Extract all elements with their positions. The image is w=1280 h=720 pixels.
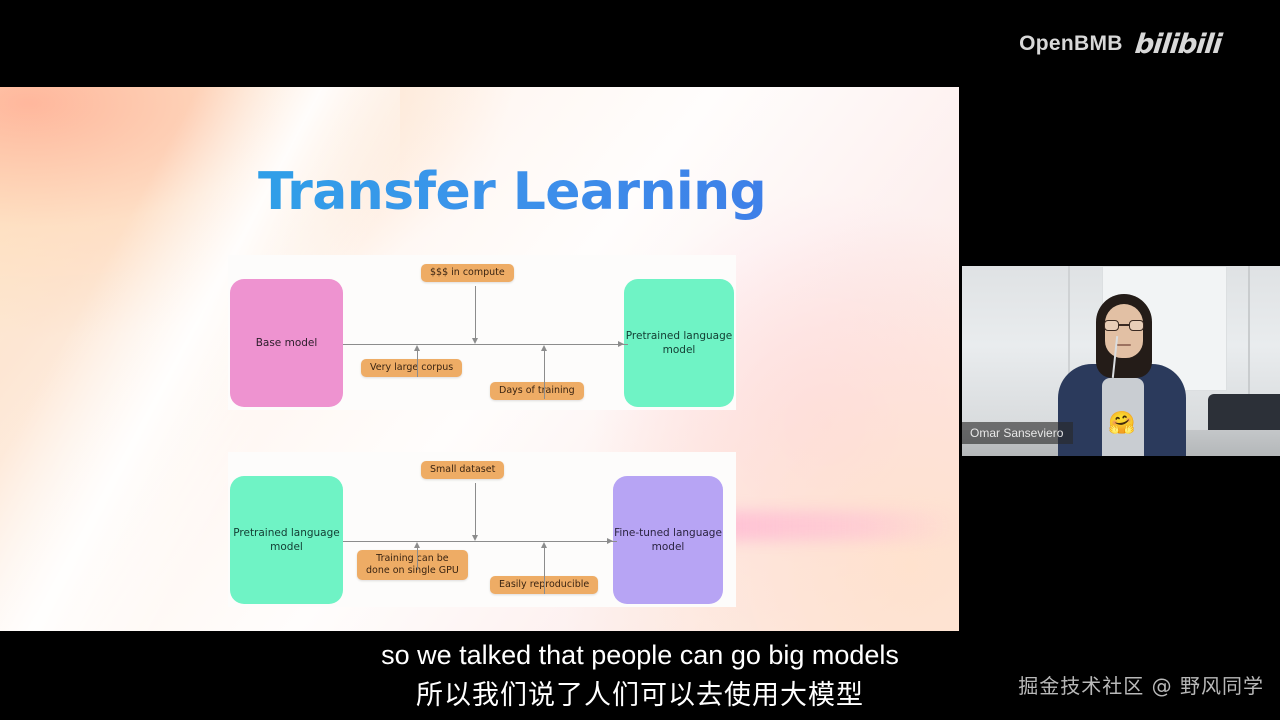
page-title: Transfer Learning <box>258 162 766 222</box>
speaker-mouth <box>1117 344 1131 346</box>
connector-gpu-stem <box>417 548 418 570</box>
connector-main-line <box>343 344 628 345</box>
connector-gpu-arrowhead-icon <box>414 542 420 548</box>
tag-very-large-corpus: Very large corpus <box>361 359 462 377</box>
tag-single-gpu-training: Training can be done on single GPU <box>357 550 468 580</box>
video-player-stage: OpenBMB bilibili Transfer Learning Base … <box>0 0 1280 720</box>
bilibili-logo: bilibili <box>1133 29 1222 60</box>
connector-reproducible-stem <box>544 548 545 594</box>
tag-days-of-training: Days of training <box>490 382 584 400</box>
subtitle-chinese: 所以我们说了人们可以去使用大模型 <box>416 673 864 712</box>
node-pretrained-language-model: Pretrained language model <box>624 279 734 407</box>
node-finetuned-language-model: Fine-tuned language model <box>613 476 723 604</box>
connector-dataset-arrowhead-icon <box>472 535 478 541</box>
connector-corpus-stem <box>417 351 418 377</box>
diagram-finetuning: Pretrained language model Fine-tuned lan… <box>228 452 736 607</box>
speaker-name-label: Omar Sanseviero <box>962 422 1073 444</box>
channel-brand-bar: OpenBMB bilibili <box>960 0 1280 88</box>
connector-dataset-stem <box>475 483 476 535</box>
tag-small-dataset: Small dataset <box>421 461 504 479</box>
connector-reproducible-arrowhead-icon <box>541 542 547 548</box>
connector-main-line <box>343 541 617 542</box>
subtitle-english: so we talked that people can go big mode… <box>381 640 899 671</box>
connector-main-arrowhead-icon <box>618 341 624 347</box>
glasses-icon <box>1104 320 1144 331</box>
speaker-face <box>1105 304 1143 358</box>
presentation-slide: Transfer Learning Base model Pretrained … <box>0 87 959 631</box>
node-pretrained-language-model-source: Pretrained language model <box>230 476 343 604</box>
connector-compute-stem <box>475 286 476 338</box>
diagram-pretraining: Base model Pretrained language model $$$… <box>228 255 736 410</box>
node-base-model: Base model <box>230 279 343 407</box>
tag-compute-cost: $$$ in compute <box>421 264 514 282</box>
channel-name: OpenBMB <box>1019 32 1123 56</box>
connector-training-stem <box>544 351 545 399</box>
connector-compute-arrowhead-icon <box>472 338 478 344</box>
connector-corpus-arrowhead-icon <box>414 345 420 351</box>
watermark: 掘金技术社区 @ 野风同学 <box>1018 670 1264 699</box>
connector-training-arrowhead-icon <box>541 345 547 351</box>
speaker-webcam-tile[interactable]: 🤗 Omar Sanseviero <box>962 266 1280 456</box>
connector-main-arrowhead-icon <box>607 538 613 544</box>
shirt-hugging-face-emoji-icon: 🤗 <box>1108 412 1138 440</box>
